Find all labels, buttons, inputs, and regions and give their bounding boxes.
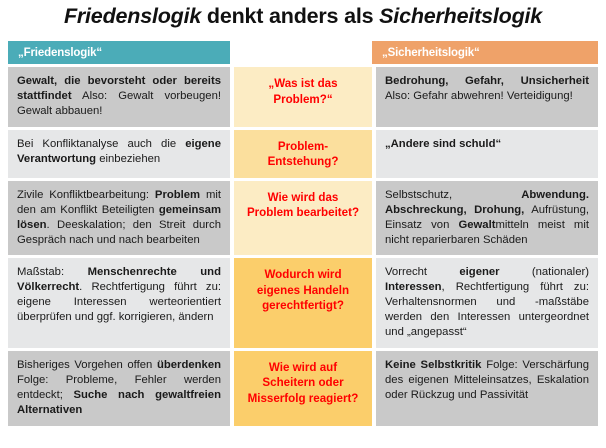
table-cell-question: Wie wird auf Scheitern oder Misserfolg r… (234, 351, 372, 426)
table-cell-question: Problem-Entstehung? (234, 130, 372, 178)
table-cell-question: Wodurch wird eigenes Handeln gerechtfert… (234, 258, 372, 348)
table-cell-peace-logic: Bisheriges Vorgehen offen überdenken Fol… (8, 351, 230, 426)
table-cell-peace-logic: Gewalt, die bevorsteht oder bereits stat… (8, 67, 230, 127)
table-cell-security-logic: Vorrecht eigener (nationaler) Interessen… (376, 258, 598, 348)
column-header-friedenslogik: „Friedenslogik“ (8, 41, 230, 64)
page-title: Friedenslogik denkt anders als Sicherhei… (0, 4, 606, 29)
table-cell-security-logic: „Andere sind schuld“ (376, 130, 598, 178)
title-part-sicherheitslogik: Sicherheitslogik (379, 4, 542, 28)
title-part-friedenslogik: Friedenslogik (64, 4, 201, 28)
table-cell-peace-logic: Maßstab: Menschenrechte und Völkerrecht.… (8, 258, 230, 348)
column-header-sicherheitslogik: „Sicherheitslogik“ (372, 41, 598, 64)
comparison-table: Gewalt, die bevorsteht oder bereits stat… (8, 67, 598, 426)
table-cell-peace-logic: Bei Konfliktanalyse auch die eigene Vera… (8, 130, 230, 178)
column-header-right-label: „Sicherheitslogik“ (382, 47, 480, 59)
table-cell-security-logic: Selbstschutz, Abwendung. Abschreckung, D… (376, 181, 598, 256)
title-part-connector: denkt anders als (201, 4, 379, 28)
table-cell-security-logic: Keine Selbstkritik Folge: Verschärfung d… (376, 351, 598, 426)
table-cell-question: Wie wird das Problem bearbeitet? (234, 181, 372, 256)
column-header-left-label: „Friedenslogik“ (18, 47, 102, 59)
table-cell-peace-logic: Zivile Konfliktbearbeitung: Problem mit … (8, 181, 230, 256)
table-cell-question: „Was ist das Problem?“ (234, 67, 372, 127)
table-cell-security-logic: Bedrohung, Gefahr, Unsicherheit Also: Ge… (376, 67, 598, 127)
slide-root: Friedenslogik denkt anders als Sicherhei… (0, 0, 606, 448)
